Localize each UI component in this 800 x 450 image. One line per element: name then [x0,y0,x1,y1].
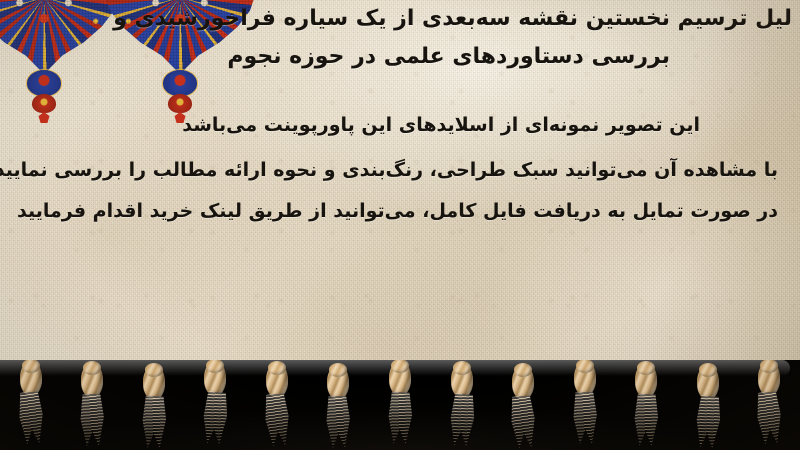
tassel-strands [508,395,538,449]
tassel-knot [758,362,780,396]
tassel-strands [632,394,659,447]
tassel [16,362,46,444]
tassel-strands [754,391,784,445]
slide-body-line-3: در صورت تمایل به دریافت فایل کامل، می‌تو… [17,200,778,222]
tassel-knot [512,366,534,400]
tassel-strands [200,391,230,445]
tassel-knot [451,364,473,398]
slide-body-line-1: این تصویر نمونه‌ای از اسلایدهای این پاور… [182,114,700,136]
tassel [139,366,169,448]
tassel-strands [16,391,46,445]
tassel-strands [325,396,352,449]
tassel [323,366,353,448]
tassel-knot [574,362,596,396]
tassel-knot [635,364,657,398]
slide-title-line-1: لیل ترسیم نخستین نقشه سه‌بعدی از یک سیار… [113,6,792,31]
tassel [693,366,723,448]
tassel-knot [81,364,103,398]
tassel-knot [204,362,226,396]
tassel-knot [327,366,349,400]
tassel [631,364,661,446]
tassel-knot [143,366,165,400]
tassel-fringe-band [0,360,800,450]
tassel [570,362,600,444]
tassel-strands [693,395,723,449]
slide-title-line-2: بررسی دستاوردهای علمی در حوزه نجوم [227,44,670,69]
tassel-strands [447,393,477,447]
tassel-knot [20,362,42,396]
tassel [77,364,107,446]
tassel-knot [266,364,288,398]
tassel [508,366,538,448]
tassel [754,362,784,444]
tassel-strands [140,396,167,449]
tassel [385,362,415,444]
slide-body-line-2: با مشاهده آن می‌توانید سبک طراحی، رنگ‌بن… [0,159,778,181]
tassel-strands [79,394,106,447]
tassel-strands [571,392,598,445]
tassel [262,364,292,446]
tassel [200,362,230,444]
tassel-strands [386,392,413,445]
tassel-knot [389,362,411,396]
tassel-knot [697,366,719,400]
tassel [447,364,477,446]
tassel-strands [262,393,292,447]
slide-canvas: لیل ترسیم نخستین نقشه سه‌بعدی از یک سیار… [0,0,800,450]
